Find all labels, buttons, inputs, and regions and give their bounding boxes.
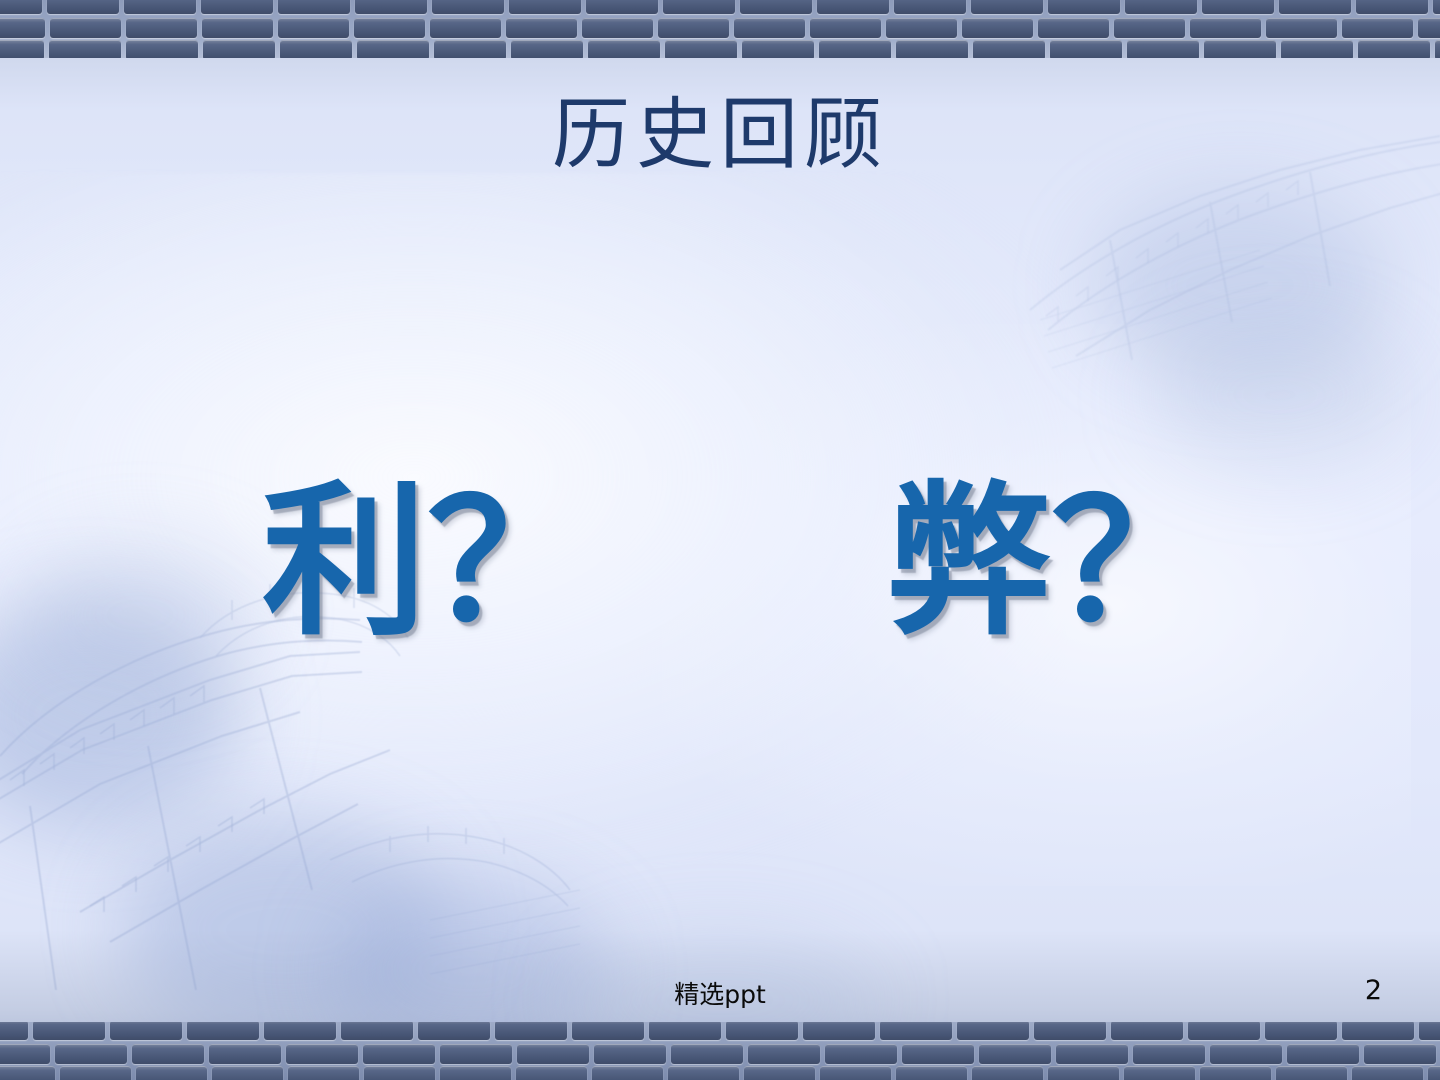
bottom-brick-border: [0, 1022, 1440, 1080]
prompt-benefit: 利？: [262, 470, 592, 655]
prompt-drawback: 弊？: [886, 470, 1216, 655]
slide-title: 历史回顾: [0, 96, 1440, 174]
slide-canvas: 历史回顾 利？ 弊？ 精选ppt 2: [0, 0, 1440, 1080]
footer-note: 精选ppt: [0, 975, 1440, 1011]
brick-row: [0, 1022, 1440, 1040]
brick-row: [0, 0, 1440, 14]
top-brick-border: [0, 0, 1440, 58]
brick-row: [0, 1044, 1440, 1064]
prompt-row: 利？ 弊？: [0, 470, 1440, 690]
page-number: 2: [1365, 975, 1382, 1006]
brick-row: [0, 18, 1440, 38]
brick-row: [0, 40, 1440, 58]
brick-row: [0, 1066, 1440, 1080]
